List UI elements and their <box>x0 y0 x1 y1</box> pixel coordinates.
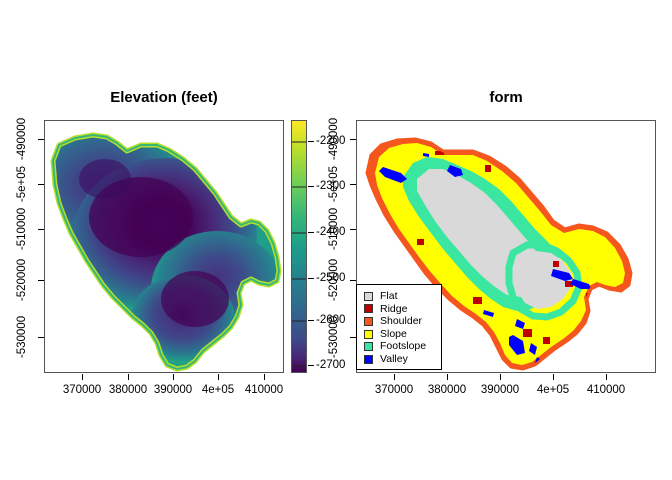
xtick-left-3 <box>218 374 219 380</box>
legend-item-flat: Flat <box>364 290 441 303</box>
legend-swatch-footslope <box>364 342 373 351</box>
xtick-label-left-4: 410000 <box>245 384 283 396</box>
xtick-label-right-2: 390000 <box>481 384 519 396</box>
ytick-label-right-0: -490000 <box>328 118 340 160</box>
legend-label-footslope: Footslope <box>380 341 426 352</box>
xtick-right-4 <box>606 374 607 380</box>
legend-label-shoulder: Shoulder <box>380 316 422 327</box>
ytick-label-left-2: -510000 <box>16 208 28 250</box>
elevation-plot-area <box>44 120 284 373</box>
xtick-right-2 <box>500 374 501 380</box>
ytick-label-left-4: -530000 <box>16 316 28 358</box>
colorbar-tick-4 <box>308 320 314 321</box>
colorbar-tick-0 <box>308 141 314 142</box>
page-title-form: form <box>356 89 656 106</box>
ytick-label-right-1: -5e+05 <box>328 166 340 202</box>
xtick-left-4 <box>264 374 265 380</box>
ytick-label-right-3: -520000 <box>328 259 340 301</box>
xtick-right-1 <box>447 374 448 380</box>
ytick-label-left-3: -520000 <box>16 259 28 301</box>
ytick-left-3 <box>38 280 44 281</box>
ytick-label-right-2: -510000 <box>328 208 340 250</box>
legend-item-ridge: Ridge <box>364 303 441 316</box>
legend-item-valley: Valley <box>364 353 441 366</box>
legend-label-slope: Slope <box>380 329 407 340</box>
legend-label-ridge: Ridge <box>380 304 407 315</box>
legend-item-shoulder: Shoulder <box>364 315 441 328</box>
legend-item-footslope: Footslope <box>364 340 441 353</box>
colorbar-tick-2 <box>308 232 314 233</box>
legend-swatch-ridge <box>364 304 373 313</box>
xtick-left-2 <box>173 374 174 380</box>
legend-swatch-flat <box>364 292 373 301</box>
xtick-label-left-1: 380000 <box>109 384 147 396</box>
legend-item-slope: Slope <box>364 328 441 341</box>
ytick-left-1 <box>38 184 44 185</box>
legend-label-flat: Flat <box>380 291 398 302</box>
ytick-right-3 <box>350 280 356 281</box>
ytick-right-2 <box>350 229 356 230</box>
form-legend: Flat Ridge Shoulder Slope Footslope Vall… <box>356 284 442 370</box>
ytick-label-left-0: -490000 <box>16 118 28 160</box>
ytick-label-left-1: -5e+05 <box>16 166 28 202</box>
xtick-label-right-4: 410000 <box>587 384 625 396</box>
colorbar-tick-5 <box>308 365 314 366</box>
elevation-colorbar <box>291 120 307 373</box>
ytick-right-0 <box>350 139 356 140</box>
ytick-label-right-4: -530000 <box>328 316 340 358</box>
ytick-left-0 <box>38 139 44 140</box>
colorbar-label-5: -2700 <box>316 359 345 371</box>
ytick-left-4 <box>38 337 44 338</box>
xtick-label-left-2: 390000 <box>154 384 192 396</box>
legend-label-valley: Valley <box>380 354 408 365</box>
xtick-right-3 <box>553 374 554 380</box>
colorbar-tick-3 <box>308 278 314 279</box>
colorbar-tick-1 <box>308 186 314 187</box>
legend-swatch-valley <box>364 355 373 364</box>
figure-canvas: Elevation (feet) <box>0 0 672 480</box>
xtick-label-right-0: 370000 <box>375 384 413 396</box>
elevation-raster <box>45 121 283 372</box>
xtick-label-left-0: 370000 <box>63 384 101 396</box>
xtick-label-right-1: 380000 <box>428 384 466 396</box>
xtick-left-0 <box>82 374 83 380</box>
legend-swatch-slope <box>364 330 373 339</box>
xtick-label-left-3: 4e+05 <box>202 384 234 396</box>
colorbar-gradient <box>292 121 306 372</box>
xtick-left-1 <box>128 374 129 380</box>
xtick-label-right-3: 4e+05 <box>537 384 569 396</box>
ytick-right-1 <box>350 184 356 185</box>
page-title-elevation: Elevation (feet) <box>44 89 284 106</box>
ytick-left-2 <box>38 229 44 230</box>
legend-swatch-shoulder <box>364 317 373 326</box>
xtick-right-0 <box>394 374 395 380</box>
